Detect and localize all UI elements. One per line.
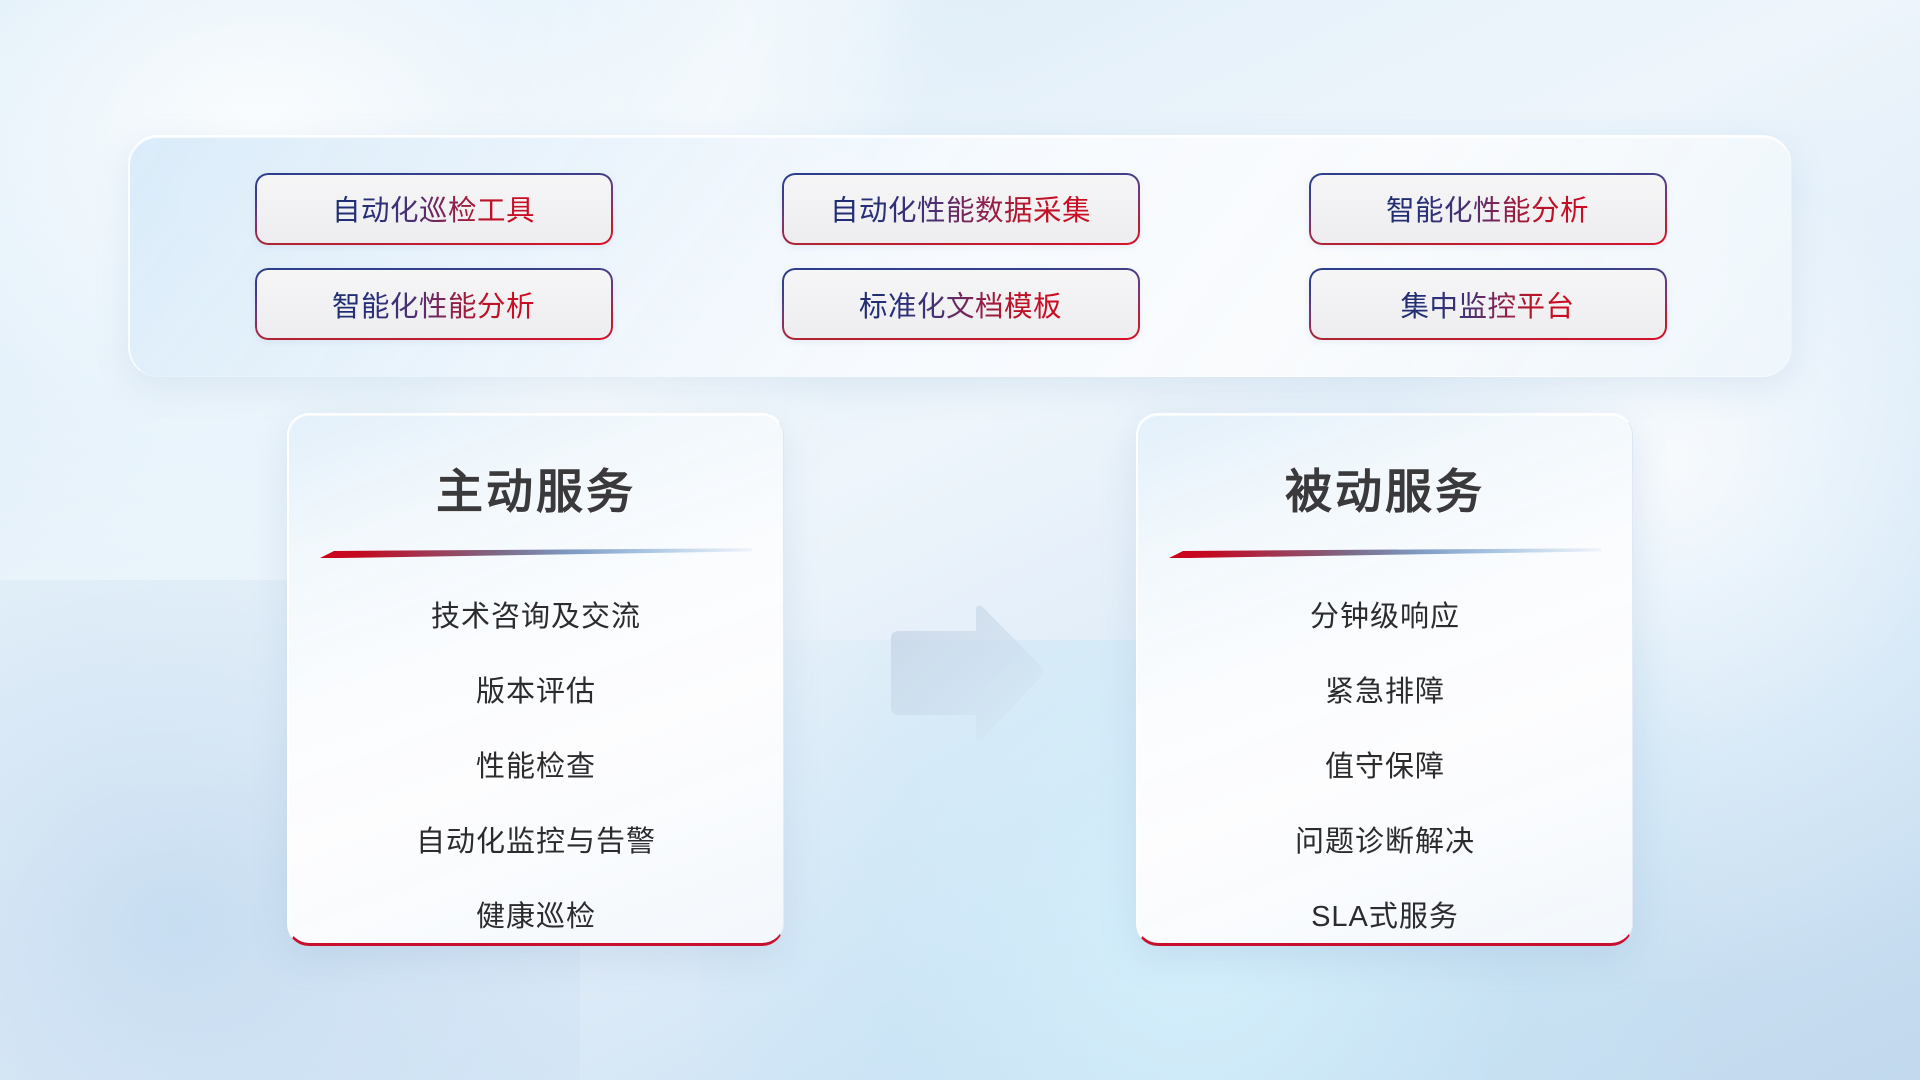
card-title: 主动服务 (289, 453, 783, 522)
proactive-service-card: 主动服务 技术咨询及 (287, 413, 784, 946)
proactive-service-list: 技术咨询及交流 版本评估 性能检查 自动化监控与告警 健康巡检 (289, 589, 783, 946)
card-title-divider (320, 548, 752, 559)
capability-tags-grid: 自动化巡检工具 自动化性能数据采集 智能化性能分析 智能化性能分析 标准化文档模… (130, 137, 1791, 376)
list-item[interactable]: 分钟级响应 (1310, 589, 1460, 646)
slide-canvas: 自动化巡检工具 自动化性能数据采集 智能化性能分析 智能化性能分析 标准化文档模… (0, 0, 1920, 1080)
capability-tag-5[interactable]: 标准化文档模板 (782, 268, 1140, 340)
capability-tag-3[interactable]: 智能化性能分析 (1309, 173, 1667, 245)
capability-tags-panel: 自动化巡检工具 自动化性能数据采集 智能化性能分析 智能化性能分析 标准化文档模… (128, 135, 1792, 377)
capability-tag-label: 智能化性能分析 (1386, 188, 1589, 229)
list-item[interactable]: 值守保障 (1325, 739, 1445, 796)
reactive-service-list: 分钟级响应 紧急排障 值守保障 问题诊断解决 SLA式服务 (1138, 589, 1632, 946)
arrow-right-icon (883, 600, 1046, 746)
capability-tag-label: 自动化巡检工具 (332, 188, 535, 229)
capability-tag-1[interactable]: 自动化巡检工具 (255, 173, 613, 245)
capability-tag-label: 自动化性能数据采集 (830, 188, 1091, 229)
capability-tag-label: 智能化性能分析 (332, 284, 535, 325)
card-title-divider (1169, 548, 1601, 559)
capability-tag-label: 标准化文档模板 (859, 284, 1062, 325)
list-item[interactable]: 紧急排障 (1325, 664, 1445, 721)
card-title: 被动服务 (1138, 453, 1632, 522)
list-item[interactable]: 健康巡检 (476, 889, 596, 946)
list-item[interactable]: 自动化监控与告警 (416, 814, 656, 871)
capability-tag-4[interactable]: 智能化性能分析 (255, 268, 613, 340)
list-item[interactable]: SLA式服务 (1311, 889, 1459, 946)
capability-tag-6[interactable]: 集中监控平台 (1309, 268, 1667, 340)
list-item[interactable]: 技术咨询及交流 (431, 589, 641, 646)
list-item[interactable]: 问题诊断解决 (1295, 814, 1475, 871)
capability-tag-label: 集中监控平台 (1400, 284, 1574, 325)
reactive-service-card: 被动服务 分钟级响应 (1136, 413, 1633, 946)
list-item[interactable]: 性能检查 (476, 739, 596, 796)
list-item[interactable]: 版本评估 (476, 664, 596, 721)
capability-tag-2[interactable]: 自动化性能数据采集 (782, 173, 1140, 245)
